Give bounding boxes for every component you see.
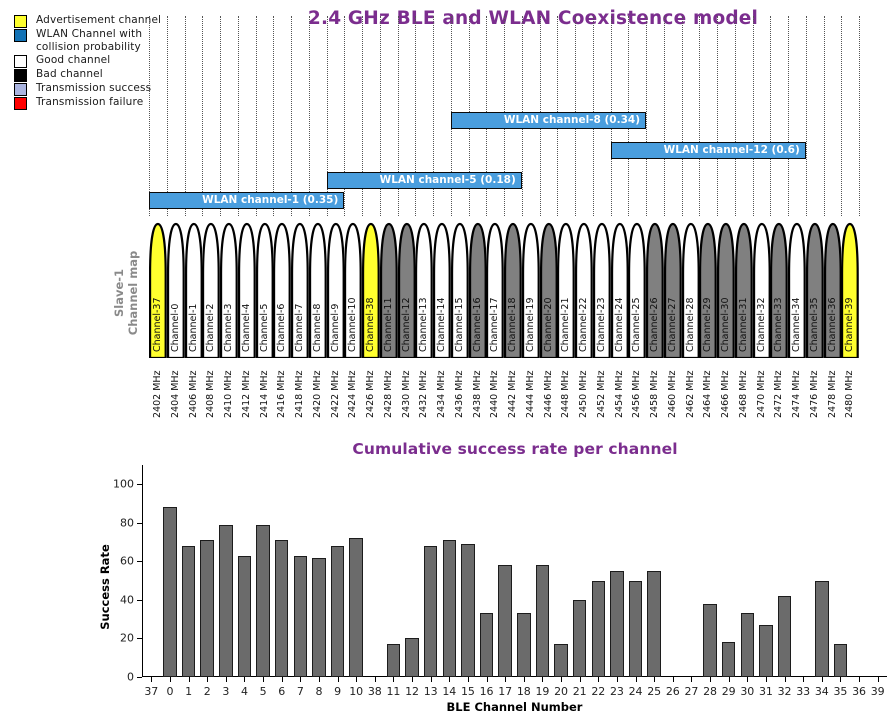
frequency-tick-label: 2406 MHz bbox=[185, 360, 202, 418]
y-axis-tick bbox=[137, 523, 142, 524]
x-axis-tick bbox=[487, 677, 488, 682]
channel-slot[interactable]: Channel-8 bbox=[309, 222, 327, 358]
frequency-tick: 2424 MHz bbox=[344, 360, 362, 418]
legend-label-bad-channel: Bad channel bbox=[36, 68, 103, 81]
channel-slot[interactable]: Channel-39 bbox=[841, 222, 859, 358]
legend-swatch-good-channel bbox=[14, 55, 27, 68]
channel-shape-icon bbox=[646, 222, 664, 358]
chart-bar[interactable] bbox=[815, 581, 828, 677]
channel-shape-icon bbox=[824, 222, 842, 358]
chart-bar[interactable] bbox=[331, 546, 344, 677]
channel-slot[interactable]: Channel-18 bbox=[504, 222, 522, 358]
channel-map-ylabel-line1: Slave-1 bbox=[112, 238, 126, 348]
frequency-tick-label: 2422 MHz bbox=[327, 360, 344, 418]
frequency-tick-label: 2460 MHz bbox=[664, 360, 681, 418]
x-axis-tick bbox=[263, 677, 264, 682]
frequency-tick-label: 2464 MHz bbox=[699, 360, 716, 418]
wlan-channel-bar[interactable]: WLAN channel-12 (0.6) bbox=[611, 142, 806, 159]
frequency-tick: 2404 MHz bbox=[167, 360, 185, 418]
x-axis-tick-label: 1 bbox=[185, 685, 192, 698]
x-axis-tick bbox=[617, 677, 618, 682]
channel-shape-icon bbox=[699, 222, 717, 358]
channel-slot[interactable]: Channel-32 bbox=[753, 222, 771, 358]
channel-slot[interactable]: Channel-25 bbox=[628, 222, 646, 358]
channel-shape-icon bbox=[486, 222, 504, 358]
frequency-tick-label: 2472 MHz bbox=[770, 360, 787, 418]
frequency-tick-label: 2404 MHz bbox=[167, 360, 184, 418]
frequency-tick: 2474 MHz bbox=[788, 360, 806, 418]
channel-shape-icon bbox=[504, 222, 522, 358]
chart-bar[interactable] bbox=[312, 558, 325, 677]
channel-slot[interactable]: Channel-5 bbox=[256, 222, 274, 358]
frequency-tick-label: 2444 MHz bbox=[522, 360, 539, 418]
chart-xlabel: BLE Channel Number bbox=[142, 700, 887, 714]
channel-shape-icon bbox=[788, 222, 806, 358]
gridline bbox=[806, 16, 807, 216]
channel-slot[interactable]: Channel-7 bbox=[291, 222, 309, 358]
x-axis-tick-label: 33 bbox=[796, 685, 810, 698]
wlan-channel-bar[interactable]: WLAN channel-8 (0.34) bbox=[451, 112, 646, 129]
gridline bbox=[770, 16, 771, 216]
channel-slot[interactable]: Channel-9 bbox=[327, 222, 345, 358]
gridline bbox=[149, 16, 150, 216]
frequency-tick: 2408 MHz bbox=[202, 360, 220, 418]
x-axis-tick bbox=[393, 677, 394, 682]
frequency-tick: 2452 MHz bbox=[593, 360, 611, 418]
x-axis-tick-label: 22 bbox=[591, 685, 605, 698]
frequency-tick: 2402 MHz bbox=[149, 360, 167, 418]
channel-slot[interactable]: Channel-30 bbox=[717, 222, 735, 358]
chart-bar[interactable] bbox=[349, 538, 362, 677]
frequency-tick: 2430 MHz bbox=[398, 360, 416, 418]
frequency-tick: 2460 MHz bbox=[664, 360, 682, 418]
channel-shape-icon bbox=[557, 222, 575, 358]
chart-bar[interactable] bbox=[163, 507, 176, 677]
frequency-tick-label: 2446 MHz bbox=[540, 360, 557, 418]
legend-label-transmission-failure: Transmission failure bbox=[36, 96, 143, 109]
wlan-channel-bar[interactable]: WLAN channel-1 (0.35) bbox=[149, 192, 344, 209]
x-axis-tick-label: 3 bbox=[222, 685, 229, 698]
gridline bbox=[753, 16, 754, 216]
channel-slot[interactable]: Channel-11 bbox=[380, 222, 398, 358]
chart-bar[interactable] bbox=[573, 600, 586, 677]
x-axis-tick-label: 30 bbox=[740, 685, 754, 698]
x-axis-tick bbox=[785, 677, 786, 682]
chart-bar[interactable] bbox=[405, 638, 418, 677]
channel-slot[interactable]: Channel-31 bbox=[735, 222, 753, 358]
channel-shape-icon bbox=[344, 222, 362, 358]
channel-slot[interactable]: Channel-17 bbox=[486, 222, 504, 358]
y-axis-tick bbox=[137, 484, 142, 485]
frequency-tick-label: 2452 MHz bbox=[593, 360, 610, 418]
frequency-tick-label: 2436 MHz bbox=[451, 360, 468, 418]
chart-bar[interactable] bbox=[592, 581, 605, 677]
channel-slot[interactable]: Channel-1 bbox=[185, 222, 203, 358]
frequency-tick-label: 2454 MHz bbox=[611, 360, 628, 418]
frequency-tick: 2420 MHz bbox=[309, 360, 327, 418]
x-axis-tick-label: 38 bbox=[368, 685, 382, 698]
gridline bbox=[220, 16, 221, 216]
channel-slot[interactable]: Channel-4 bbox=[238, 222, 256, 358]
chart-bar[interactable] bbox=[424, 546, 437, 677]
chart-bar[interactable] bbox=[536, 565, 549, 677]
gridline bbox=[699, 16, 700, 216]
frequency-tick-row: 2402 MHz2404 MHz2406 MHz2408 MHz2410 MHz… bbox=[149, 360, 859, 418]
frequency-tick: 2478 MHz bbox=[824, 360, 842, 418]
y-axis-tick bbox=[137, 677, 142, 678]
channel-shape-icon bbox=[220, 222, 238, 358]
channel-shape-icon bbox=[238, 222, 256, 358]
success-rate-chart: Cumulative success rate per channel Succ… bbox=[0, 432, 896, 717]
x-axis-tick-label: 16 bbox=[480, 685, 494, 698]
channel-shape-icon bbox=[611, 222, 629, 358]
x-axis-tick bbox=[859, 677, 860, 682]
frequency-tick: 2450 MHz bbox=[575, 360, 593, 418]
frequency-tick: 2410 MHz bbox=[220, 360, 238, 418]
chart-bar[interactable] bbox=[443, 540, 456, 677]
x-axis-tick-label: 15 bbox=[461, 685, 475, 698]
channel-shape-icon bbox=[664, 222, 682, 358]
channel-slot[interactable]: Channel-15 bbox=[451, 222, 469, 358]
channel-shape-icon bbox=[309, 222, 327, 358]
channel-slot[interactable]: Channel-24 bbox=[611, 222, 629, 358]
frequency-tick-label: 2476 MHz bbox=[806, 360, 823, 418]
frequency-tick-label: 2474 MHz bbox=[788, 360, 805, 418]
channel-shape-icon bbox=[522, 222, 540, 358]
frequency-tick: 2446 MHz bbox=[540, 360, 558, 418]
x-axis-tick-label: 17 bbox=[498, 685, 512, 698]
y-axis-tick-label: 80 bbox=[120, 516, 134, 529]
gridline bbox=[185, 16, 186, 216]
channel-map-ylabel-line2: Channel map bbox=[126, 238, 140, 348]
chart-bar[interactable] bbox=[722, 642, 735, 677]
channel-slot[interactable]: Channel-10 bbox=[344, 222, 362, 358]
chart-bar[interactable] bbox=[461, 544, 474, 677]
legend-swatch-bad-channel bbox=[14, 69, 27, 82]
x-axis-tick-label: 31 bbox=[759, 685, 773, 698]
x-axis-tick bbox=[319, 677, 320, 682]
frequency-tick: 2464 MHz bbox=[699, 360, 717, 418]
channel-shape-icon bbox=[273, 222, 291, 358]
chart-bar[interactable] bbox=[387, 644, 400, 677]
channel-slot[interactable]: Channel-0 bbox=[167, 222, 185, 358]
chart-bar[interactable] bbox=[703, 604, 716, 677]
channel-shape-icon bbox=[362, 222, 380, 358]
legend-swatch-transmission-failure bbox=[14, 97, 27, 110]
channel-slot[interactable]: Channel-23 bbox=[593, 222, 611, 358]
gridline bbox=[256, 16, 257, 216]
x-axis-tick-label: 13 bbox=[424, 685, 438, 698]
channel-shape-icon bbox=[451, 222, 469, 358]
frequency-tick-label: 2448 MHz bbox=[557, 360, 574, 418]
x-axis-tick bbox=[654, 677, 655, 682]
x-axis-tick bbox=[524, 677, 525, 682]
frequency-tick-label: 2466 MHz bbox=[717, 360, 734, 418]
frequency-tick-label: 2430 MHz bbox=[398, 360, 415, 418]
frequency-tick: 2406 MHz bbox=[185, 360, 203, 418]
chart-plot-area: 0204060801003701234567891038111213141516… bbox=[142, 465, 887, 677]
x-axis-tick-label: 2 bbox=[204, 685, 211, 698]
frequency-tick: 2456 MHz bbox=[628, 360, 646, 418]
channel-slot[interactable]: Channel-29 bbox=[699, 222, 717, 358]
x-axis-tick-label: 28 bbox=[703, 685, 717, 698]
x-axis-tick bbox=[207, 677, 208, 682]
chart-bar[interactable] bbox=[480, 613, 493, 677]
frequency-tick-label: 2420 MHz bbox=[309, 360, 326, 418]
x-axis-tick-label: 20 bbox=[554, 685, 568, 698]
x-axis-tick bbox=[803, 677, 804, 682]
channel-slot[interactable]: Channel-36 bbox=[824, 222, 842, 358]
frequency-tick-label: 2432 MHz bbox=[415, 360, 432, 418]
frequency-tick-label: 2468 MHz bbox=[735, 360, 752, 418]
frequency-tick-label: 2434 MHz bbox=[433, 360, 450, 418]
gridline bbox=[273, 16, 274, 216]
channel-shape-icon bbox=[735, 222, 753, 358]
gridline bbox=[682, 16, 683, 216]
x-axis-tick bbox=[468, 677, 469, 682]
frequency-tick: 2476 MHz bbox=[806, 360, 824, 418]
y-axis-tick-label: 100 bbox=[113, 478, 134, 491]
frequency-tick-label: 2416 MHz bbox=[273, 360, 290, 418]
gridline bbox=[735, 16, 736, 216]
chart-bar[interactable] bbox=[182, 546, 195, 677]
x-axis-tick-label: 4 bbox=[241, 685, 248, 698]
gridline bbox=[646, 16, 647, 216]
channel-slot[interactable]: Channel-19 bbox=[522, 222, 540, 358]
chart-bar[interactable] bbox=[778, 596, 791, 677]
channel-slot[interactable]: Channel-6 bbox=[273, 222, 291, 358]
frequency-tick-label: 2410 MHz bbox=[220, 360, 237, 418]
x-axis-tick bbox=[505, 677, 506, 682]
frequency-tick-label: 2424 MHz bbox=[344, 360, 361, 418]
x-axis-tick bbox=[300, 677, 301, 682]
channel-shape-icon bbox=[167, 222, 185, 358]
frequency-tick-label: 2408 MHz bbox=[202, 360, 219, 418]
channel-slot[interactable]: Channel-13 bbox=[415, 222, 433, 358]
x-axis-tick bbox=[375, 677, 376, 682]
gridline bbox=[824, 16, 825, 216]
x-axis-tick-label: 18 bbox=[517, 685, 531, 698]
frequency-tick: 2472 MHz bbox=[770, 360, 788, 418]
x-axis-tick bbox=[598, 677, 599, 682]
x-axis-tick bbox=[561, 677, 562, 682]
channel-shape-icon bbox=[575, 222, 593, 358]
frequency-tick: 2418 MHz bbox=[291, 360, 309, 418]
gridline bbox=[291, 16, 292, 216]
frequency-tick: 2432 MHz bbox=[415, 360, 433, 418]
frequency-tick: 2468 MHz bbox=[735, 360, 753, 418]
x-axis-tick bbox=[170, 677, 171, 682]
chart-bar[interactable] bbox=[238, 556, 251, 677]
x-axis-tick bbox=[338, 677, 339, 682]
chart-bar[interactable] bbox=[256, 525, 269, 677]
y-axis-tick bbox=[137, 561, 142, 562]
channel-shape-icon bbox=[185, 222, 203, 358]
x-axis-tick bbox=[766, 677, 767, 682]
chart-bar[interactable] bbox=[200, 540, 213, 677]
channel-slot[interactable]: Channel-38 bbox=[362, 222, 380, 358]
frequency-tick-label: 2418 MHz bbox=[291, 360, 308, 418]
x-axis-tick-label: 32 bbox=[778, 685, 792, 698]
channel-shape-icon bbox=[291, 222, 309, 358]
frequency-tick: 2466 MHz bbox=[717, 360, 735, 418]
channel-slot[interactable]: Channel-12 bbox=[398, 222, 416, 358]
chart-bar[interactable] bbox=[294, 556, 307, 677]
legend-swatch-transmission-success bbox=[14, 83, 27, 96]
channel-slot[interactable]: Channel-35 bbox=[806, 222, 824, 358]
channel-shape-icon bbox=[415, 222, 433, 358]
chart-title: Cumulative success rate per channel bbox=[140, 440, 890, 458]
chart-bar[interactable] bbox=[610, 571, 623, 677]
frequency-tick: 2470 MHz bbox=[753, 360, 771, 418]
frequency-tick-label: 2402 MHz bbox=[149, 360, 166, 418]
x-axis-tick-label: 34 bbox=[815, 685, 829, 698]
gridline bbox=[238, 16, 239, 216]
x-axis-tick bbox=[431, 677, 432, 682]
x-axis-tick-label: 0 bbox=[166, 685, 173, 698]
chart-bar[interactable] bbox=[759, 625, 772, 677]
x-axis-tick-label: 35 bbox=[833, 685, 847, 698]
chart-bar[interactable] bbox=[647, 571, 660, 677]
x-axis-tick-label: 12 bbox=[405, 685, 419, 698]
frequency-tick-label: 2438 MHz bbox=[469, 360, 486, 418]
frequency-tick: 2422 MHz bbox=[327, 360, 345, 418]
x-axis-tick-label: 36 bbox=[852, 685, 866, 698]
frequency-tick: 2444 MHz bbox=[522, 360, 540, 418]
chart-bar[interactable] bbox=[219, 525, 232, 677]
x-axis-tick-label: 5 bbox=[260, 685, 267, 698]
frequency-tick-label: 2450 MHz bbox=[575, 360, 592, 418]
channel-slot[interactable]: Channel-33 bbox=[770, 222, 788, 358]
legend-swatch-wlan-channel-collision bbox=[14, 29, 27, 42]
chart-bar[interactable] bbox=[275, 540, 288, 677]
channel-slot[interactable]: Channel-37 bbox=[149, 222, 167, 358]
channel-slot[interactable]: Channel-2 bbox=[202, 222, 220, 358]
frequency-tick: 2458 MHz bbox=[646, 360, 664, 418]
gridline bbox=[309, 16, 310, 216]
legend-label-good-channel: Good channel bbox=[36, 54, 110, 67]
gridline bbox=[717, 16, 718, 216]
channel-map-ylabel: Slave-1 Channel map bbox=[112, 238, 146, 348]
legend-label-transmission-success: Transmission success bbox=[36, 82, 151, 95]
channel-slot[interactable]: Channel-34 bbox=[788, 222, 806, 358]
frequency-tick-label: 2458 MHz bbox=[646, 360, 663, 418]
channel-shape-icon bbox=[469, 222, 487, 358]
channel-slot[interactable]: Channel-28 bbox=[682, 222, 700, 358]
channel-shape-icon bbox=[380, 222, 398, 358]
x-axis-tick bbox=[449, 677, 450, 682]
x-axis-tick-label: 7 bbox=[297, 685, 304, 698]
gridline bbox=[841, 16, 842, 216]
x-axis-tick bbox=[673, 677, 674, 682]
x-axis-tick bbox=[244, 677, 245, 682]
x-axis-tick-label: 8 bbox=[315, 685, 322, 698]
x-axis-tick-label: 14 bbox=[442, 685, 456, 698]
frequency-tick-label: 2462 MHz bbox=[682, 360, 699, 418]
frequency-tick: 2440 MHz bbox=[486, 360, 504, 418]
frequency-tick-label: 2440 MHz bbox=[486, 360, 503, 418]
x-axis-tick bbox=[822, 677, 823, 682]
x-axis-tick bbox=[840, 677, 841, 682]
wlan-channel-bar[interactable]: WLAN channel-5 (0.18) bbox=[327, 172, 522, 189]
channel-slot[interactable]: Channel-20 bbox=[540, 222, 558, 358]
x-axis-tick bbox=[747, 677, 748, 682]
channel-shape-icon bbox=[398, 222, 416, 358]
x-axis-tick-label: 37 bbox=[144, 685, 158, 698]
frequency-tick-label: 2426 MHz bbox=[362, 360, 379, 418]
frequency-tick-label: 2442 MHz bbox=[504, 360, 521, 418]
x-axis-tick-label: 19 bbox=[535, 685, 549, 698]
frequency-tick: 2414 MHz bbox=[256, 360, 274, 418]
y-axis-tick-label: 40 bbox=[120, 593, 134, 606]
chart-bar[interactable] bbox=[498, 565, 511, 677]
y-axis-tick bbox=[137, 600, 142, 601]
channel-slot[interactable]: Channel-26 bbox=[646, 222, 664, 358]
chart-axes-frame bbox=[142, 465, 887, 677]
channel-slot[interactable]: Channel-3 bbox=[220, 222, 238, 358]
x-axis-tick-label: 6 bbox=[278, 685, 285, 698]
x-axis-tick bbox=[412, 677, 413, 682]
chart-bar[interactable] bbox=[517, 613, 530, 677]
x-axis-tick-label: 29 bbox=[722, 685, 736, 698]
channel-slot[interactable]: Channel-14 bbox=[433, 222, 451, 358]
channel-shape-icon bbox=[540, 222, 558, 358]
x-axis-tick-label: 23 bbox=[610, 685, 624, 698]
chart-bar[interactable] bbox=[741, 613, 754, 677]
x-axis-tick bbox=[729, 677, 730, 682]
x-axis-tick bbox=[356, 677, 357, 682]
x-axis-tick bbox=[636, 677, 637, 682]
gridline bbox=[664, 16, 665, 216]
channel-map-axis: Channel-37Channel-0Channel-1Channel-2Cha… bbox=[149, 222, 859, 358]
x-axis-tick bbox=[151, 677, 152, 682]
x-axis-tick bbox=[282, 677, 283, 682]
channel-shape-icon bbox=[433, 222, 451, 358]
channel-shape-icon bbox=[753, 222, 771, 358]
channel-slot[interactable]: Channel-27 bbox=[664, 222, 682, 358]
x-axis-tick bbox=[691, 677, 692, 682]
frequency-tick: 2428 MHz bbox=[380, 360, 398, 418]
frequency-tick: 2436 MHz bbox=[451, 360, 469, 418]
y-axis-tick-label: 0 bbox=[127, 671, 134, 684]
x-axis-tick-label: 25 bbox=[647, 685, 661, 698]
x-axis-tick-label: 10 bbox=[349, 685, 363, 698]
frequency-tick-label: 2428 MHz bbox=[380, 360, 397, 418]
frequency-tick: 2454 MHz bbox=[611, 360, 629, 418]
x-axis-tick bbox=[878, 677, 879, 682]
channel-shape-icon bbox=[202, 222, 220, 358]
channel-slot[interactable]: Channel-21 bbox=[557, 222, 575, 358]
wlan-overlay-panel: WLAN channel-1 (0.35)WLAN channel-5 (0.1… bbox=[149, 16, 859, 216]
channel-shape-icon bbox=[682, 222, 700, 358]
channel-shape-icon bbox=[841, 222, 859, 358]
channel-shape-icon bbox=[593, 222, 611, 358]
channel-slot[interactable]: Channel-22 bbox=[575, 222, 593, 358]
y-axis-tick bbox=[137, 638, 142, 639]
channel-shape-icon bbox=[717, 222, 735, 358]
chart-bar[interactable] bbox=[554, 644, 567, 677]
frequency-tick-label: 2412 MHz bbox=[238, 360, 255, 418]
chart-bar[interactable] bbox=[629, 581, 642, 677]
frequency-tick-label: 2478 MHz bbox=[824, 360, 841, 418]
gridline bbox=[167, 16, 168, 216]
x-axis-tick bbox=[226, 677, 227, 682]
frequency-tick-label: 2480 MHz bbox=[841, 360, 858, 418]
channel-slot[interactable]: Channel-16 bbox=[469, 222, 487, 358]
chart-bar[interactable] bbox=[834, 644, 847, 677]
x-axis-tick bbox=[542, 677, 543, 682]
frequency-tick-label: 2414 MHz bbox=[256, 360, 273, 418]
